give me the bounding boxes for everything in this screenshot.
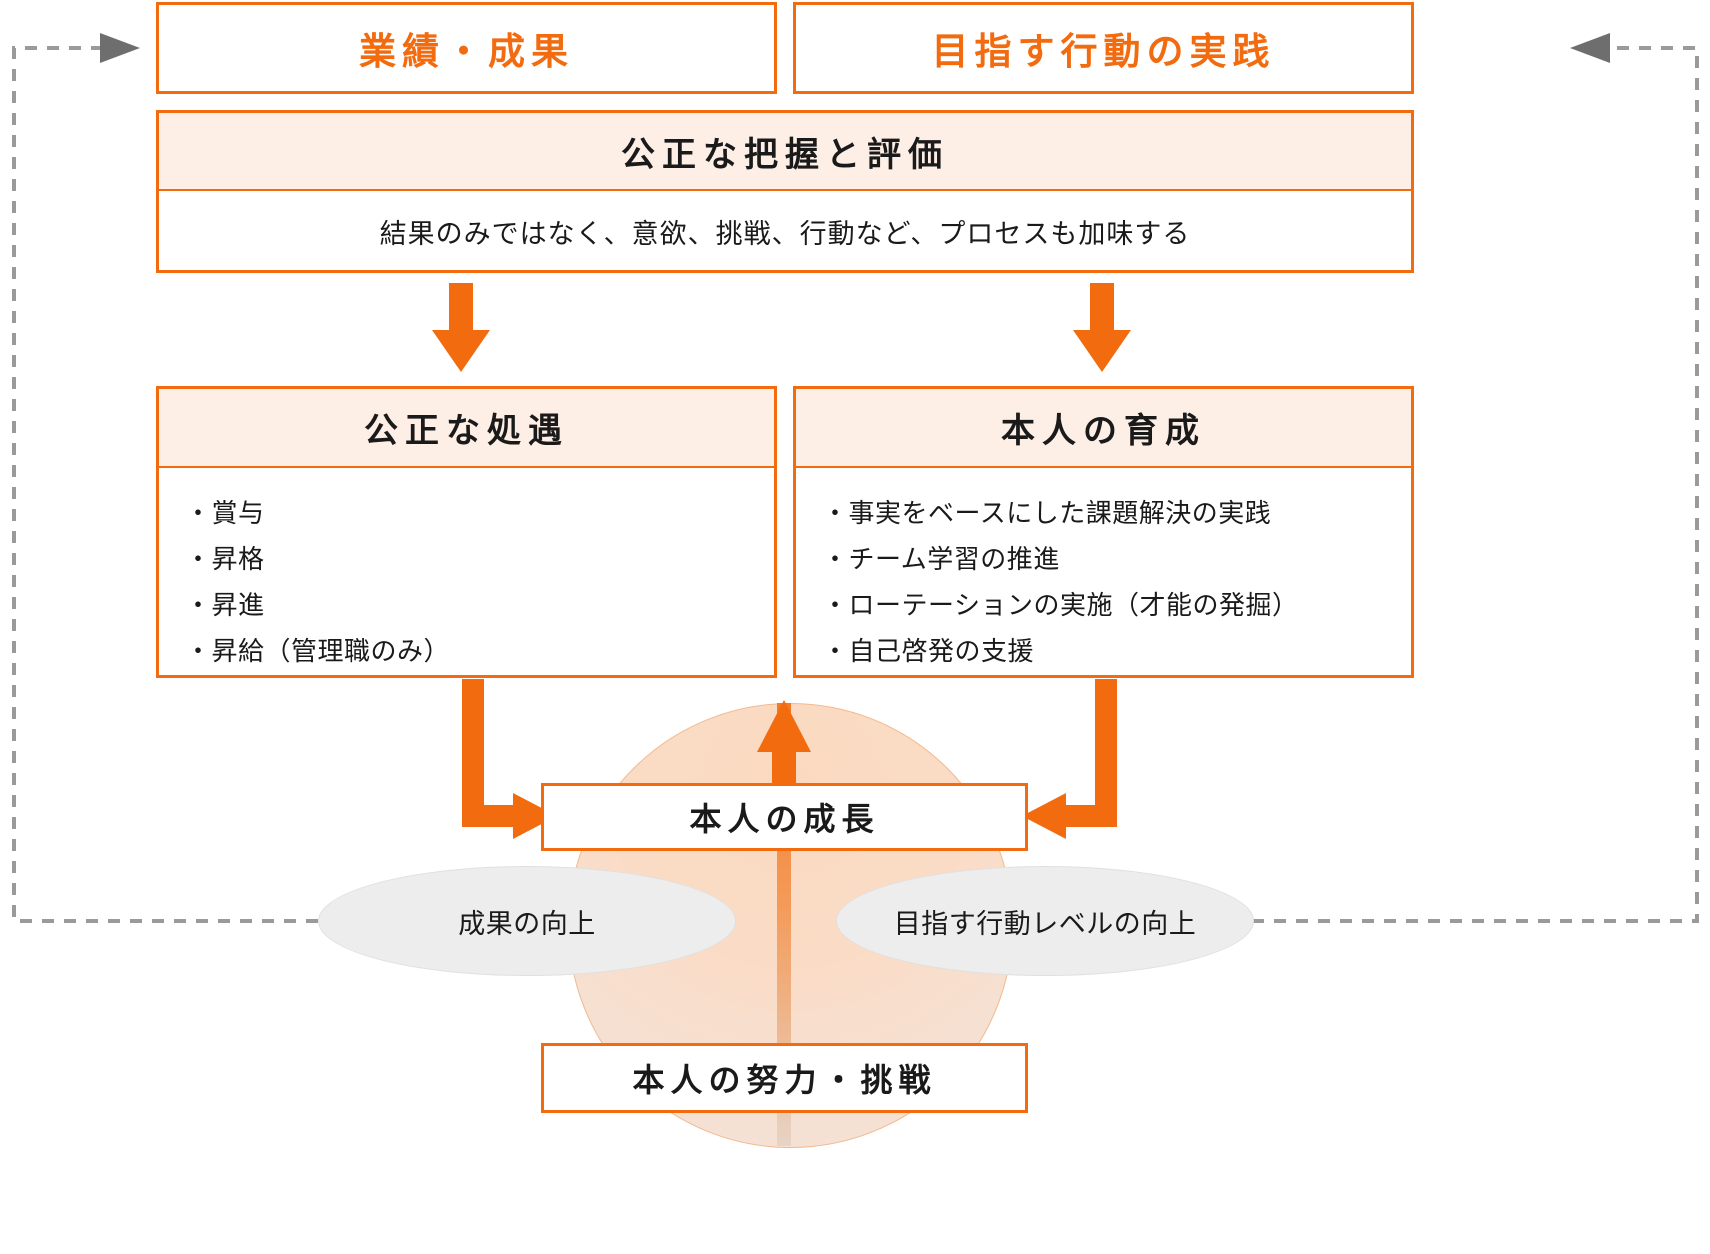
panel-fair-treatment-list: ・賞与 ・昇格 ・昇進 ・昇給（管理職のみ） xyxy=(159,468,774,674)
list-item: ・昇進 xyxy=(185,582,774,628)
list-item: ・昇格 xyxy=(185,536,774,582)
panel-development-list: ・事実をベースにした課題解決の実践 ・チーム学習の推進 ・ローテーションの実施（… xyxy=(796,468,1411,674)
list-item: ・自己啓発の支援 xyxy=(822,628,1411,674)
growth-box[interactable]: 本人の成長 xyxy=(541,783,1028,851)
arrow-down-left xyxy=(432,283,490,372)
bubble-outcome-improvement: 成果の向上 xyxy=(318,866,736,976)
evaluation-panel: 公正な把握と評価 結果のみではなく、意欲、挑戦、行動など、プロセスも加味する xyxy=(156,110,1414,273)
feedback-arrowhead-left xyxy=(100,33,140,63)
panel-fair-treatment: 公正な処遇 ・賞与 ・昇格 ・昇進 ・昇給（管理職のみ） xyxy=(156,386,777,678)
growth-box-label: 本人の成長 xyxy=(689,794,879,840)
diagram-canvas: 業績・成果 目指す行動の実践 公正な把握と評価 結果のみではなく、意欲、挑戦、行… xyxy=(0,0,1710,1254)
arrow-down-right xyxy=(1073,283,1131,372)
panel-development: 本人の育成 ・事実をベースにした課題解決の実践 ・チーム学習の推進 ・ローテーシ… xyxy=(793,386,1414,678)
header-box-behavior[interactable]: 目指す行動の実践 xyxy=(793,2,1414,94)
header-box-behavior-label: 目指す行動の実践 xyxy=(796,5,1411,91)
bubble-behavior-improvement: 目指す行動レベルの向上 xyxy=(836,866,1254,976)
header-box-performance-label: 業績・成果 xyxy=(159,5,774,91)
evaluation-panel-body: 結果のみではなく、意欲、挑戦、行動など、プロセスも加味する xyxy=(159,191,1411,271)
panel-development-head: 本人の育成 xyxy=(796,389,1411,468)
bubble-outcome-improvement-label: 成果の向上 xyxy=(458,902,596,941)
arrow-elbow-right xyxy=(1022,679,1117,839)
effort-box[interactable]: 本人の努力・挑戦 xyxy=(541,1043,1028,1113)
header-box-performance[interactable]: 業績・成果 xyxy=(156,2,777,94)
list-item: ・事実をベースにした課題解決の実践 xyxy=(822,490,1411,536)
panel-fair-treatment-head: 公正な処遇 xyxy=(159,389,774,468)
bubble-behavior-improvement-label: 目指す行動レベルの向上 xyxy=(894,902,1197,941)
list-item: ・賞与 xyxy=(185,490,774,536)
list-item: ・チーム学習の推進 xyxy=(822,536,1411,582)
effort-box-label: 本人の努力・挑戦 xyxy=(632,1055,936,1101)
list-item: ・昇給（管理職のみ） xyxy=(185,628,774,674)
list-item: ・ローテーションの実施（才能の発掘） xyxy=(822,582,1411,628)
feedback-arrowhead-right xyxy=(1570,33,1610,63)
evaluation-panel-head: 公正な把握と評価 xyxy=(159,113,1411,191)
